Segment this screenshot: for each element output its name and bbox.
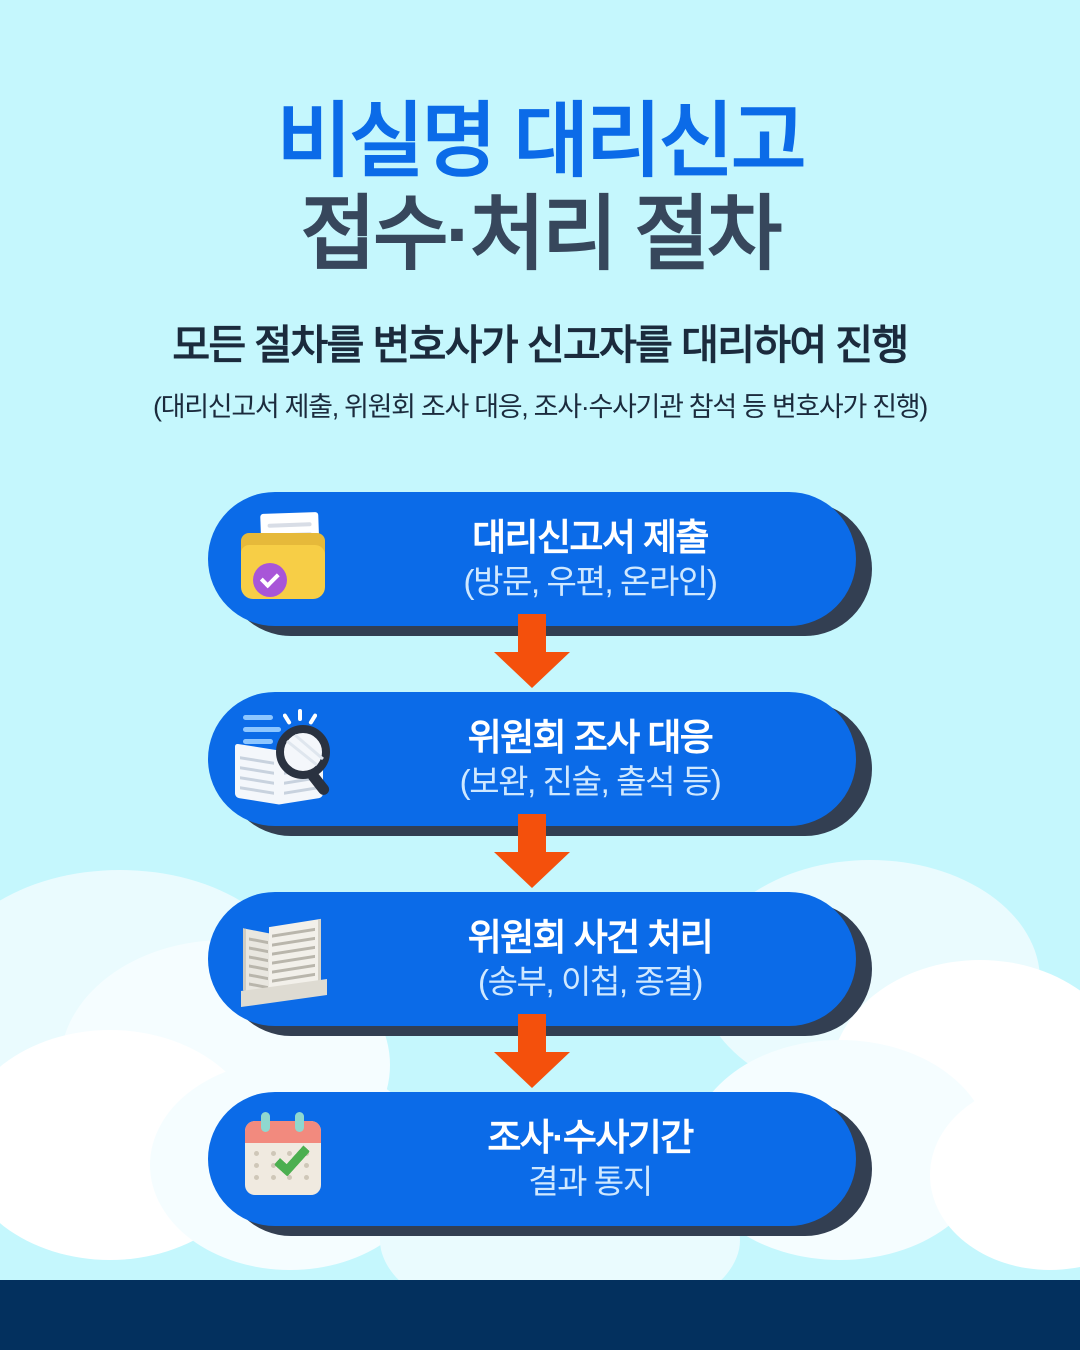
step-title: 위원회 조사 대응 (358, 717, 822, 758)
arrow-down-icon (490, 1014, 574, 1088)
step-title: 위원회 사건 처리 (358, 917, 822, 958)
page-title-line-2: 접수·처리 절차 (0, 189, 1080, 282)
calendar-check-icon (208, 1107, 358, 1211)
cloud-shape (930, 1080, 1080, 1270)
arrow-down-icon (490, 814, 574, 888)
government-building-icon (208, 907, 358, 1011)
step-title: 대리신고서 제출 (358, 517, 822, 558)
flow-step-1: 대리신고서 제출 (방문, 우편, 온라인) (208, 492, 856, 626)
step-title: 조사·수사기간 (358, 1117, 822, 1158)
process-flow: 대리신고서 제출 (방문, 우편, 온라인) (208, 492, 872, 1226)
page-subnote: (대리신고서 제출, 위원회 조사 대응, 조사·수사기관 참석 등 변호사가 … (0, 385, 1080, 424)
step-card-1[interactable]: 대리신고서 제출 (방문, 우편, 온라인) (208, 492, 856, 626)
flow-step-3: 위원회 사건 처리 (송부, 이첩, 종결) (208, 892, 856, 1026)
step-card-3[interactable]: 위원회 사건 처리 (송부, 이첩, 종결) (208, 892, 856, 1026)
page-title-line-1: 비실명 대리신고 (0, 96, 1080, 189)
page-subtitle: 모든 절차를 변호사가 신고자를 대리하여 진행 (0, 321, 1080, 370)
folder-document-check-icon (208, 507, 358, 611)
bottom-bar (0, 1280, 1080, 1350)
page-header: 비실명 대리신고 접수·처리 절차 모든 절차를 변호사가 신고자를 대리하여 … (0, 0, 1080, 424)
step-subtitle: (방문, 우편, 온라인) (358, 564, 822, 601)
step-card-4[interactable]: 조사·수사기간 결과 통지 (208, 1092, 856, 1226)
book-magnifier-icon (208, 707, 358, 811)
flow-step-2: 위원회 조사 대응 (보완, 진술, 출석 등) (208, 692, 856, 826)
step-subtitle: (송부, 이첩, 종결) (358, 964, 822, 1001)
step-card-2[interactable]: 위원회 조사 대응 (보완, 진술, 출석 등) (208, 692, 856, 826)
flow-step-4: 조사·수사기간 결과 통지 (208, 1092, 856, 1226)
step-subtitle: 결과 통지 (358, 1164, 822, 1201)
step-subtitle: (보완, 진술, 출석 등) (358, 764, 822, 801)
arrow-down-icon (490, 614, 574, 688)
